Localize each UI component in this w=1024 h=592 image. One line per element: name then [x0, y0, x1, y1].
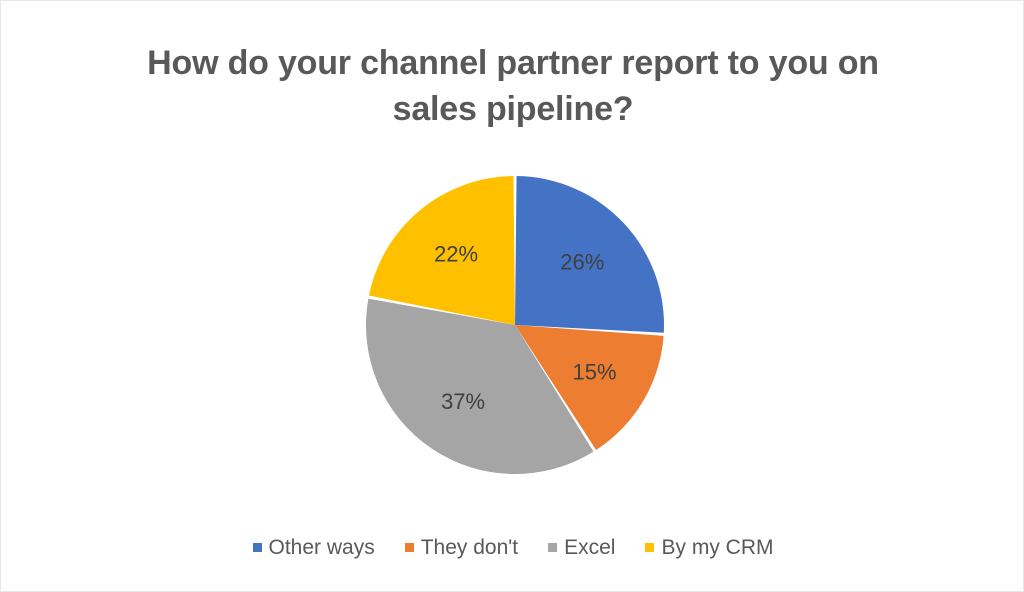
legend-item-label: By my CRM	[661, 537, 773, 558]
legend-item[interactable]: Excel	[548, 537, 615, 558]
legend-swatch-icon	[548, 543, 557, 552]
legend-item[interactable]: Other ways	[253, 537, 375, 558]
chart-title: How do your channel partner report to yo…	[1, 41, 1024, 132]
pie-slice-label: 15%	[572, 360, 616, 385]
legend-item-label: Excel	[564, 537, 615, 558]
legend-swatch-icon	[405, 543, 414, 552]
legend-swatch-icon	[645, 543, 654, 552]
legend-item[interactable]: They don't	[405, 537, 518, 558]
pie-slice-label: 37%	[441, 389, 485, 414]
pie-plot-area: 26%15%37%22%	[365, 175, 665, 475]
pie-chart-figure: How do your channel partner report to yo…	[0, 0, 1024, 592]
pie-slice-label: 22%	[434, 241, 478, 266]
chart-legend: Other waysThey don'tExcelBy my CRM	[1, 537, 1024, 558]
chart-title-line-2: sales pipeline?	[1, 87, 1024, 133]
pie-slice-label: 26%	[560, 249, 604, 274]
legend-swatch-icon	[253, 543, 262, 552]
pie-slice-group	[366, 176, 664, 474]
legend-item-label: Other ways	[269, 537, 375, 558]
legend-item[interactable]: By my CRM	[645, 537, 773, 558]
legend-item-label: They don't	[421, 537, 518, 558]
pie-svg: 26%15%37%22%	[365, 175, 665, 475]
chart-title-line-1: How do your channel partner report to yo…	[1, 41, 1024, 87]
